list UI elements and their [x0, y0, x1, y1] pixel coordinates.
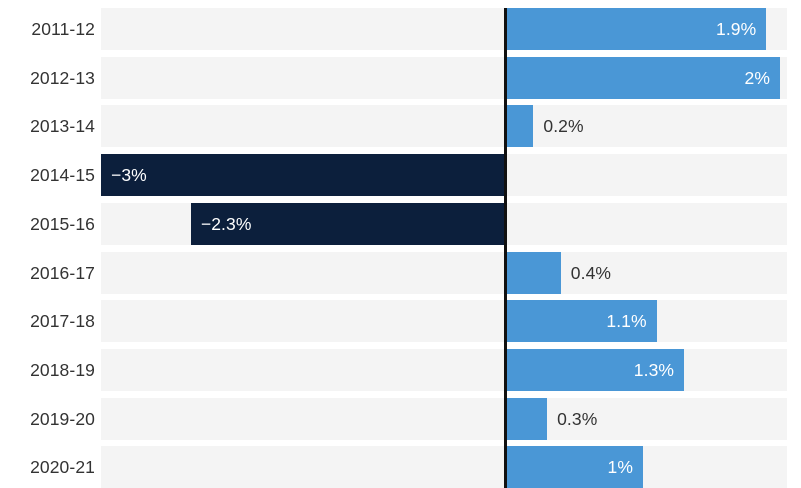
value-label: 1.9%: [506, 8, 756, 50]
bar-positive[interactable]: [506, 398, 547, 440]
chart-row: 2019-200.3%: [0, 398, 801, 440]
category-label: 2011-12: [0, 8, 95, 50]
chart-row: 2013-140.2%: [0, 105, 801, 147]
bar-chart: 2011-121.9%2012-132%2013-140.2%2014-15−3…: [0, 0, 801, 487]
value-label: 1.1%: [506, 300, 647, 342]
chart-row: 2016-170.4%: [0, 252, 801, 294]
bar-track: [101, 349, 787, 391]
value-label: 0.3%: [557, 398, 797, 440]
value-label: 0.4%: [571, 252, 797, 294]
category-label: 2014-15: [0, 154, 95, 196]
value-label: 0.2%: [543, 105, 797, 147]
value-label: 1.3%: [506, 349, 674, 391]
category-label: 2017-18: [0, 300, 95, 342]
category-label: 2012-13: [0, 57, 95, 99]
chart-row: 2017-181.1%: [0, 300, 801, 342]
bar-track: [101, 300, 787, 342]
category-label: 2020-21: [0, 446, 95, 488]
value-label: −3%: [111, 154, 506, 196]
category-label: 2019-20: [0, 398, 95, 440]
bar-positive[interactable]: [506, 105, 533, 147]
category-label: 2018-19: [0, 349, 95, 391]
chart-row: 2015-16−2.3%: [0, 203, 801, 245]
category-label: 2013-14: [0, 105, 95, 147]
chart-row: 2014-15−3%: [0, 154, 801, 196]
bar-track: [101, 446, 787, 488]
zero-axis-line: [504, 8, 507, 488]
chart-rows: 2011-121.9%2012-132%2013-140.2%2014-15−3…: [0, 0, 801, 487]
category-label: 2016-17: [0, 252, 95, 294]
bar-positive[interactable]: [506, 252, 561, 294]
chart-row: 2018-191.3%: [0, 349, 801, 391]
value-label: −2.3%: [201, 203, 506, 245]
chart-row: 2020-211%: [0, 446, 801, 488]
chart-row: 2012-132%: [0, 57, 801, 99]
chart-row: 2011-121.9%: [0, 8, 801, 50]
value-label: 1%: [506, 446, 633, 488]
category-label: 2015-16: [0, 203, 95, 245]
value-label: 2%: [506, 57, 770, 99]
